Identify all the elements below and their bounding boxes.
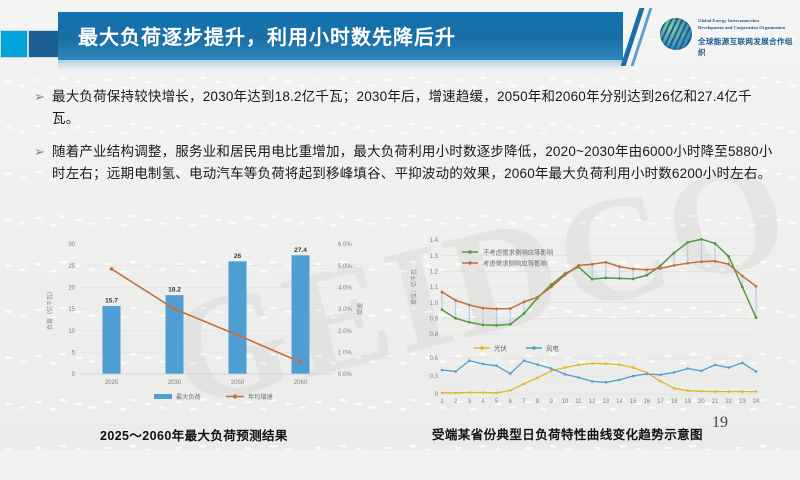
line-data-point xyxy=(536,363,539,366)
y-axis-tick-label: 0.9 xyxy=(430,317,439,323)
line-data-point xyxy=(591,362,594,365)
slide-header: 最大负荷逐步提升，利用小时数先降后升 Global Energy Interco… xyxy=(0,0,800,78)
line-data-point xyxy=(686,389,689,392)
y-axis-title: 单位：亿千瓦 xyxy=(410,269,418,305)
line-data-point xyxy=(714,390,717,393)
line-data-point xyxy=(714,364,717,367)
line-data-point xyxy=(686,241,689,244)
logo-english-text: Global Energy Interconnection Developmen… xyxy=(698,17,796,31)
line-data-point xyxy=(550,286,553,289)
line-data-point xyxy=(741,390,744,393)
line-data-point xyxy=(659,374,662,377)
line-data-point xyxy=(482,324,485,327)
line-data-point xyxy=(686,262,689,265)
x-axis-tick-label: 20 xyxy=(698,399,705,405)
secondary-y-axis-tick-label: 3.0% xyxy=(338,307,352,313)
line-data-point xyxy=(700,390,703,393)
x-axis-tick-label: 4 xyxy=(481,399,485,405)
x-axis-tick-label: 10 xyxy=(562,399,569,405)
load-curve-line-2 xyxy=(442,261,756,309)
line-data-point xyxy=(632,268,635,271)
secondary-y-axis-tick-label: 5.0% xyxy=(338,264,352,270)
legend-swatch xyxy=(468,250,472,254)
x-axis-tick-label: 22 xyxy=(725,399,732,405)
line-data-point xyxy=(755,316,758,319)
line-data-point xyxy=(441,308,444,311)
x-axis-tick-label: 9 xyxy=(550,399,554,405)
secondary-y-axis-tick-label: 4.0% xyxy=(338,286,352,292)
line-data-point xyxy=(714,260,717,263)
bar xyxy=(292,255,310,374)
secondary-y-axis-tick-label: 1.0% xyxy=(338,351,352,357)
line-data-point xyxy=(564,373,567,376)
caption-right-chart: 受端某省份典型日负荷特性曲线变化趋势示意图 xyxy=(432,424,703,443)
line-data-point xyxy=(741,286,744,289)
caption-left-chart: 2025～2060年最大负荷预测结果 xyxy=(100,425,288,444)
x-axis-tick-label: 14 xyxy=(616,399,623,405)
legend-label: 风电 xyxy=(546,343,559,352)
line-data-point xyxy=(741,275,744,278)
logo-english-line2: Development and Cooperation Organization xyxy=(698,24,796,31)
line-data-point xyxy=(523,312,526,315)
x-axis-tick-label: 2050 xyxy=(231,380,245,386)
x-axis-tick-label: 5 xyxy=(495,399,499,405)
logo-chinese-text: 全球能源互联网发展合作组织 xyxy=(698,36,795,58)
line-data-point xyxy=(454,392,457,395)
x-axis-tick-label: 13 xyxy=(602,399,609,405)
bullet-marker-icon: ➢ xyxy=(34,86,52,130)
x-axis-tick-label: 2060 xyxy=(294,380,308,386)
list-item: ➢ 最大负荷保持较快增长，2030年达到18.2亿千瓦；2030年后，增速趋缓，… xyxy=(34,86,774,130)
line-data-point xyxy=(673,387,676,390)
y-axis-title: 负荷（亿千瓦） xyxy=(46,288,54,330)
line-data-point xyxy=(618,363,621,366)
line-data-point xyxy=(482,391,485,394)
line-data-point xyxy=(577,364,580,367)
line-data-point xyxy=(604,277,607,280)
line-data-point xyxy=(482,363,485,366)
y-axis-tick-label: 1.4 xyxy=(430,238,439,244)
line-data-point xyxy=(550,370,553,373)
line-data-point xyxy=(659,380,662,383)
y-axis-tick-label: 25 xyxy=(68,264,75,270)
bar xyxy=(103,306,121,374)
line-data-point xyxy=(727,390,730,393)
slide-canvas: GEIDCO 最大负荷逐步提升，利用小时数先降后升 Global Energy … xyxy=(0,0,800,450)
line-data-point xyxy=(577,376,580,379)
x-axis-tick-label: 6 xyxy=(509,399,513,405)
growth-rate-line xyxy=(112,269,301,362)
line-data-point xyxy=(591,380,594,383)
list-item: ➢ 随着产业结构调整，服务业和居民用电比重增加，最大负荷利用小时数逐步降低，20… xyxy=(34,141,774,185)
x-axis-tick-label: 15 xyxy=(630,399,637,405)
line-data-point xyxy=(686,367,689,370)
legend-swatch-bar xyxy=(154,394,172,399)
bar-chart-svg: 0510152025300.0%1.0%2.0%3.0%4.0%5.0%6.0%… xyxy=(36,232,376,417)
line-data-point xyxy=(659,267,662,270)
bullet-text: 随着产业结构调整，服务业和居民用电比重增加，最大负荷利用小时数逐步降低，2020… xyxy=(52,141,774,185)
x-axis-tick-label: 11 xyxy=(575,399,582,405)
line-data-point xyxy=(755,370,758,373)
chart-max-load-forecast: 0510152025300.0%1.0%2.0%3.0%4.0%5.0%6.0%… xyxy=(36,232,376,417)
legend-swatch xyxy=(480,346,484,350)
line-data-point xyxy=(618,265,621,268)
line-data-point xyxy=(509,323,512,326)
line-data-point xyxy=(536,377,539,380)
y-axis-tick-label: 15 xyxy=(68,307,75,313)
line-data-point xyxy=(536,296,539,299)
line-data-point xyxy=(441,369,444,372)
bar xyxy=(166,295,184,374)
legend-label: 不考虑需求侧响应等影响 xyxy=(483,247,553,256)
line-data-point xyxy=(523,359,526,362)
line-data-point xyxy=(659,264,662,267)
line-data-point xyxy=(755,390,758,393)
line-data-point xyxy=(632,375,635,378)
line-data-point xyxy=(700,370,703,373)
title-bar: 最大负荷逐步提升，利用小时数先降后升 xyxy=(58,12,623,60)
line-data-point xyxy=(441,291,444,294)
line-data-point xyxy=(564,366,567,369)
y-axis-tick-label: 1.1 xyxy=(430,285,439,291)
secondary-y-axis-tick-label: 2.0% xyxy=(338,329,352,335)
x-axis-tick-label: 24 xyxy=(753,399,760,405)
line-data-point xyxy=(727,263,730,266)
y-axis-tick-label: 0 xyxy=(435,392,439,398)
y-axis-tick-label: 0.3 xyxy=(430,374,439,380)
line-data-point xyxy=(577,264,580,267)
bar-value-label: 26 xyxy=(234,253,242,260)
line-data-point xyxy=(618,379,621,382)
organization-logo: Global Energy Interconnection Developmen… xyxy=(660,14,795,58)
x-axis-tick-label: 21 xyxy=(712,399,719,405)
x-axis-tick-label: 12 xyxy=(589,399,596,405)
x-axis-tick-label: 2030 xyxy=(168,380,182,386)
line-data-point xyxy=(591,263,594,266)
bar-value-label: 15.7 xyxy=(105,297,118,304)
line-data-point xyxy=(605,362,608,365)
line-data-point xyxy=(618,277,621,280)
line-data-point xyxy=(454,370,457,373)
line-data-point xyxy=(495,392,498,395)
y-axis-tick-label: 20 xyxy=(68,286,75,292)
line-data-point xyxy=(755,285,758,288)
y-axis-tick-label: 30 xyxy=(68,242,75,248)
legend-label: 考虑需求侧响应等影响 xyxy=(483,258,547,267)
x-axis-tick-label: 23 xyxy=(739,399,746,405)
line-data-point xyxy=(299,360,303,364)
line-data-point xyxy=(673,371,676,374)
page-number: 19 xyxy=(712,414,728,432)
line-data-point xyxy=(714,242,717,245)
legend-label-bar: 最大负荷 xyxy=(176,393,201,401)
chart-daily-load-curve: 0.80.91.01.11.21.31.4单位：亿千瓦不考虑需求侧响应等影响考虑… xyxy=(404,230,794,415)
line-data-point xyxy=(645,373,648,376)
legend-label: 光伏 xyxy=(494,343,507,352)
bar-value-label: 18.2 xyxy=(168,287,181,294)
line-data-point xyxy=(645,274,648,277)
line-data-point xyxy=(673,264,676,267)
y-axis-tick-label: 1.0 xyxy=(430,301,439,307)
page-title: 最大负荷逐步提升，利用小时数先降后升 xyxy=(78,21,456,50)
bar-value-label: 27.4 xyxy=(294,247,307,254)
legend-swatch xyxy=(468,261,472,265)
secondary-y-axis-tick-label: 0.0% xyxy=(338,372,352,378)
line-data-point xyxy=(605,381,608,384)
line-data-point xyxy=(454,317,457,320)
y-axis-tick-label: 0.8 xyxy=(430,332,439,338)
line-data-point xyxy=(110,267,114,271)
y-axis-tick-label: 0.6 xyxy=(430,356,439,362)
decoration-square-cyan xyxy=(0,30,28,58)
line-data-point xyxy=(563,274,566,277)
y-axis-tick-label: 1.2 xyxy=(430,270,439,276)
line-data-point xyxy=(632,366,635,369)
bullet-marker-icon: ➢ xyxy=(34,141,52,185)
line-data-point xyxy=(468,304,471,307)
legend-swatch xyxy=(532,346,536,350)
x-axis-tick-label: 3 xyxy=(468,399,472,405)
x-axis-tick-label: 2025 xyxy=(105,380,119,386)
line-data-point xyxy=(523,383,526,386)
logo-english-line1: Global Energy Interconnection xyxy=(698,17,796,24)
x-axis-tick-label: 19 xyxy=(684,399,691,405)
line-data-point xyxy=(509,307,512,310)
secondary-y-axis-tick-label: 6.0% xyxy=(338,242,352,248)
secondary-y-axis-title: 增速 xyxy=(356,303,364,315)
line-data-point xyxy=(727,255,730,258)
line-data-point xyxy=(509,372,512,375)
line-data-point xyxy=(495,324,498,327)
x-axis-tick-label: 2 xyxy=(454,399,458,405)
line-data-point xyxy=(495,365,498,368)
line-data-point xyxy=(441,392,444,395)
line-data-point xyxy=(236,333,240,337)
line-data-point xyxy=(550,367,553,370)
x-axis-tick-label: 8 xyxy=(536,399,540,405)
line-data-point xyxy=(468,359,471,362)
line-data-point xyxy=(632,277,635,280)
x-axis-tick-label: 1 xyxy=(440,399,444,405)
bar xyxy=(229,261,247,374)
x-axis-tick-label: 17 xyxy=(657,399,664,405)
globe-icon xyxy=(660,18,692,50)
legend-swatch-line xyxy=(233,395,237,399)
bullet-list: ➢ 最大负荷保持较快增长，2030年达到18.2亿千瓦；2030年后，增速趋缓，… xyxy=(34,86,774,196)
line-data-point xyxy=(591,278,594,281)
y-axis-tick-label: 1.3 xyxy=(430,254,439,260)
line-data-point xyxy=(741,362,744,365)
line-data-point xyxy=(604,261,607,264)
line-data-point xyxy=(523,300,526,303)
line-data-point xyxy=(468,321,471,324)
line-data-point xyxy=(727,366,730,369)
line-data-point xyxy=(509,389,512,392)
line-data-point xyxy=(173,307,177,311)
y-axis-tick-label: 0 xyxy=(72,372,76,378)
line-data-point xyxy=(482,307,485,310)
y-axis-tick-label: 5 xyxy=(72,351,76,357)
line-data-point xyxy=(645,268,648,271)
line-chart-svg: 0.80.91.01.11.21.31.4单位：亿千瓦不考虑需求侧响应等影响考虑… xyxy=(404,230,794,415)
line-data-point xyxy=(700,260,703,263)
y-axis-tick-label: 10 xyxy=(68,329,75,335)
x-axis-tick-label: 18 xyxy=(671,399,678,405)
x-axis-tick-label: 16 xyxy=(643,399,650,405)
legend-label-line: 年均增速 xyxy=(248,393,273,401)
line-data-point xyxy=(495,308,498,311)
line-data-point xyxy=(468,391,471,394)
bullet-text: 最大负荷保持较快增长，2030年达到18.2亿千瓦；2030年后，增速趋缓，20… xyxy=(52,86,774,130)
line-data-point xyxy=(700,238,703,241)
line-data-point xyxy=(454,299,457,302)
x-axis-tick-label: 7 xyxy=(522,399,526,405)
line-data-point xyxy=(673,251,676,254)
